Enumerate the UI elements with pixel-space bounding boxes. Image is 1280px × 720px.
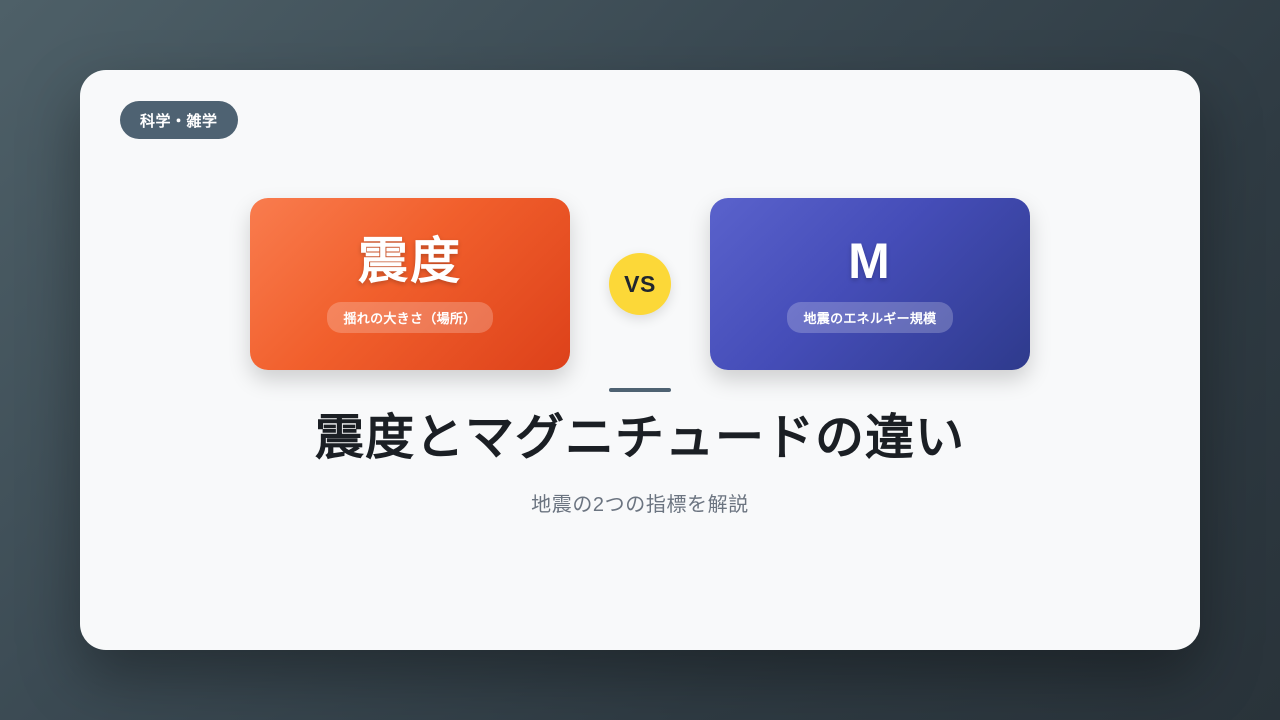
slide-card: 科学・雑学 震度 揺れの大きさ（場所） VS M 地震のエネルギー規模 震度とマ…	[80, 70, 1200, 650]
comparison-caption-left: 揺れの大きさ（場所）	[327, 302, 492, 333]
comparison-term-left: 震度	[358, 236, 462, 286]
comparison-caption-right: 地震のエネルギー規模	[787, 302, 952, 333]
slide-title: 震度とマグニチュードの違い	[315, 410, 965, 466]
vs-badge: VS	[609, 253, 671, 315]
comparison-row: 震度 揺れの大きさ（場所） VS M 地震のエネルギー規模	[80, 198, 1200, 370]
vs-gap: VS	[570, 253, 710, 315]
slide-subtitle: 地震の2つの指標を解説	[531, 488, 749, 517]
comparison-term-right: M	[848, 236, 892, 286]
title-divider	[609, 388, 671, 392]
comparison-card-magnitude: M 地震のエネルギー規模	[710, 198, 1030, 370]
title-block: 震度とマグニチュードの違い 地震の2つの指標を解説	[80, 388, 1200, 517]
category-badge: 科学・雑学	[120, 101, 238, 139]
comparison-card-shindo: 震度 揺れの大きさ（場所）	[250, 198, 570, 370]
